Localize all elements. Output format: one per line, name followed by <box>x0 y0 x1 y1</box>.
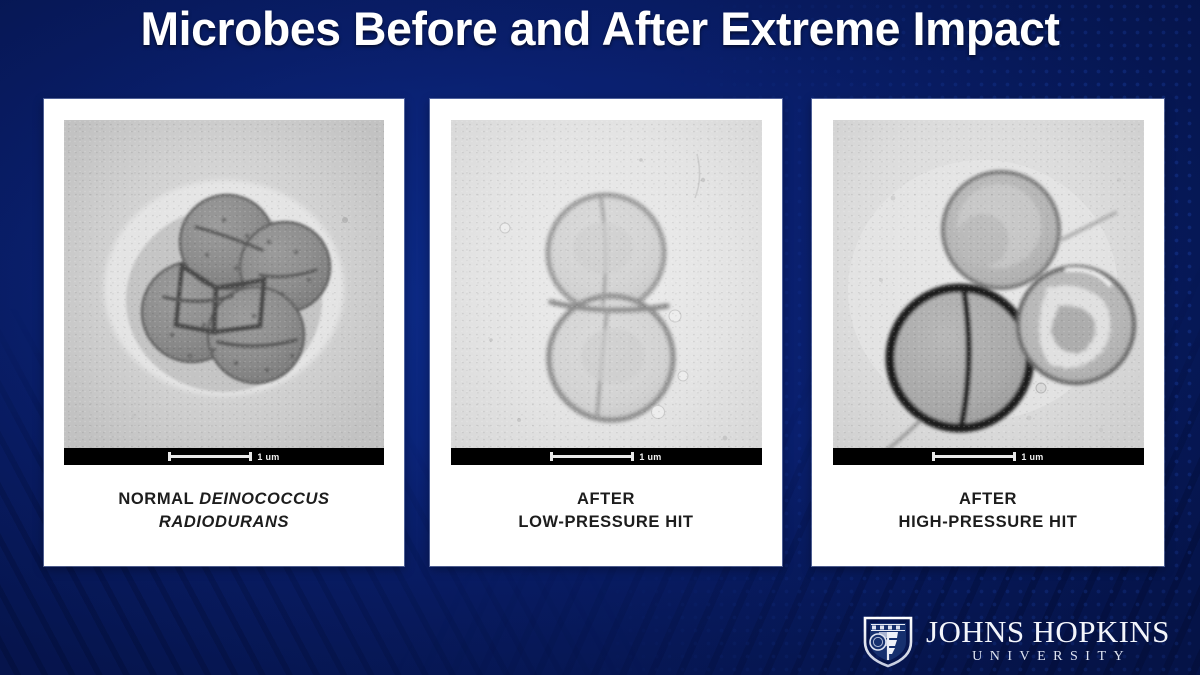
caption-line-1: NORMAL DEINOCOCCUS <box>118 488 329 511</box>
panel-caption-normal: NORMAL DEINOCOCCUS RADIODURANS <box>118 465 329 566</box>
caption-line-1: AFTER <box>959 488 1017 511</box>
panel-card-high-pressure: 1 um AFTER HIGH-PRESSURE HIT <box>812 99 1164 566</box>
jhu-logo-name: JOHNS HOPKINS <box>926 615 1170 648</box>
jhu-logo: JOHNS HOPKINS UNIVERSITY <box>862 612 1170 668</box>
scalebar-line <box>550 455 634 458</box>
caption-species-part-2: RADIODURANS <box>159 511 289 534</box>
caption-line-2: LOW-PRESSURE HIT <box>518 511 693 534</box>
scalebar-label: 1 um <box>639 452 661 462</box>
micrograph-high-pressure: 1 um <box>833 120 1144 465</box>
caption-normal-word: NORMAL <box>118 490 199 508</box>
scalebar-label: 1 um <box>1021 452 1043 462</box>
panel-caption-high-pressure: AFTER HIGH-PRESSURE HIT <box>899 465 1078 566</box>
micrograph-grain-overlay <box>833 120 1144 465</box>
jhu-logo-wordmark: JOHNS HOPKINS UNIVERSITY <box>926 615 1170 665</box>
caption-line-1: AFTER <box>577 488 635 511</box>
micrograph-grain-overlay <box>451 120 762 465</box>
panel-card-normal: 1 um NORMAL DEINOCOCCUS RADIODURANS <box>44 99 404 566</box>
panel-card-low-pressure: 1 um AFTER LOW-PRESSURE HIT <box>430 99 782 566</box>
jhu-logo-subtitle: UNIVERSITY <box>965 648 1132 665</box>
caption-species-part-1: DEINOCOCCUS <box>199 490 329 508</box>
micrograph-low-pressure: 1 um <box>451 120 762 465</box>
scalebar-line <box>168 455 252 458</box>
panel-caption-low-pressure: AFTER LOW-PRESSURE HIT <box>518 465 693 566</box>
jhu-shield-icon <box>862 612 914 668</box>
scalebar-line <box>932 455 1016 458</box>
scalebar-strip-high-pressure: 1 um <box>833 448 1144 465</box>
micrograph-grain-overlay <box>64 120 384 465</box>
scalebar-label: 1 um <box>257 452 279 462</box>
micrograph-normal: 1 um <box>64 120 384 465</box>
caption-line-2: HIGH-PRESSURE HIT <box>899 511 1078 534</box>
page-title: Microbes Before and After Extreme Impact <box>9 2 1191 56</box>
scalebar-strip-low-pressure: 1 um <box>451 448 762 465</box>
slide-root: Microbes Before and After Extreme Impact <box>0 0 1200 675</box>
scalebar-strip-normal: 1 um <box>64 448 384 465</box>
